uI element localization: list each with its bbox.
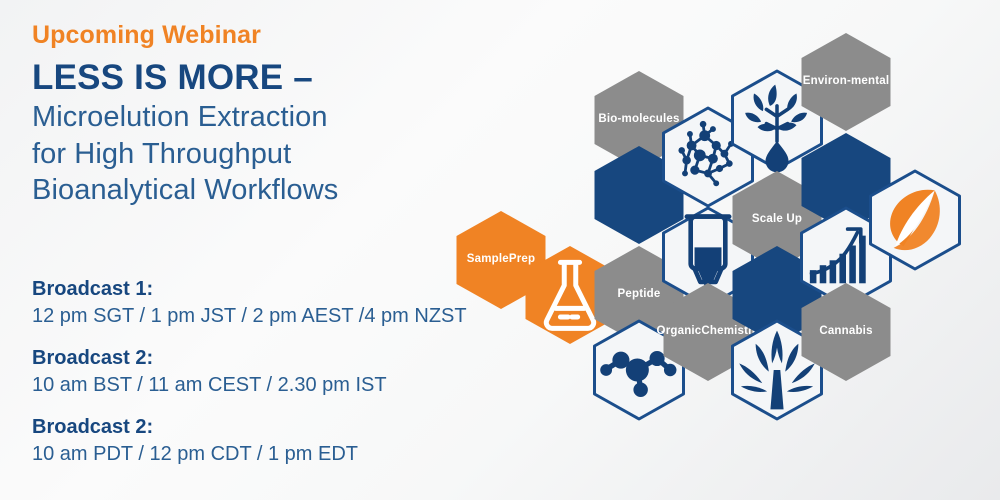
hexagon-cannabis: Cannabis (800, 282, 892, 382)
broadcast-times: 10 am PDT / 12 pm CDT / 1 pm EDT (32, 441, 612, 467)
slide-canvas: Upcoming Webinar LESS IS MORE – Microelu… (0, 0, 1000, 500)
broadcast-item: Broadcast 2:10 am PDT / 12 pm CDT / 1 pm… (32, 415, 612, 467)
hexagon-environmental: Environ-mental (800, 32, 892, 132)
hexagon-leaf-logo (869, 170, 961, 270)
hexagon-honeycomb-graphic: SamplePrepBio-moleculesPeptideOrganicChe… (440, 22, 1000, 422)
